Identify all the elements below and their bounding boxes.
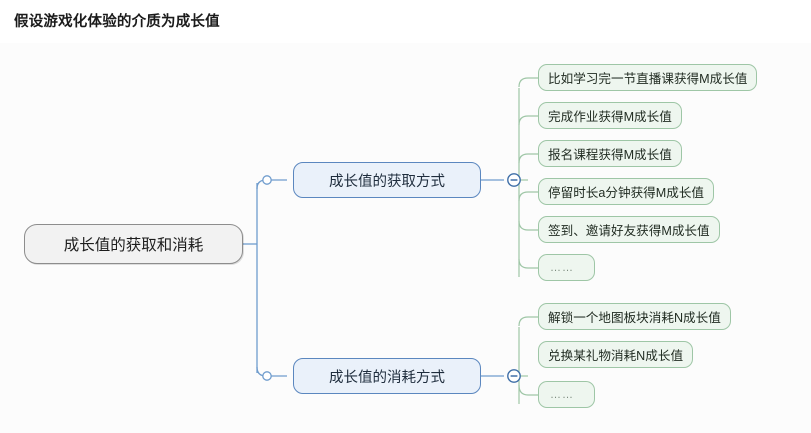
mindmap-leaf-acquire-3[interactable]: 报名课程获得M成长值 <box>538 140 682 167</box>
mindmap-leaf-acquire-2[interactable]: 完成作业获得M成长值 <box>538 102 682 129</box>
mindmap-root-node[interactable]: 成长值的获取和消耗 <box>24 224 243 264</box>
mindmap-leaf-consume-1[interactable]: 解锁一个地图板块消耗N成长值 <box>538 303 731 330</box>
mindmap-branch-acquire[interactable]: 成长值的获取方式 <box>293 162 481 198</box>
mindmap-leaf-consume-more[interactable]: …… <box>538 381 595 408</box>
mindmap-leaf-acquire-4[interactable]: 停留时长a分钟获得M成长值 <box>538 178 714 205</box>
page-title: 假设游戏化体验的介质为成长值 <box>14 10 220 31</box>
mindmap-leaf-consume-2[interactable]: 兑换某礼物消耗N成长值 <box>538 341 693 368</box>
mindmap-branch-consume[interactable]: 成长值的消耗方式 <box>293 358 481 394</box>
mindmap-leaf-acquire-1[interactable]: 比如学习完一节直播课获得M成长值 <box>538 64 757 91</box>
mindmap-canvas: 成长值的获取和消耗 成长值的获取方式 比如学习完一节直播课获得M成长值 完成作业… <box>0 43 811 433</box>
minus-circle-icon-acquire[interactable] <box>504 170 524 190</box>
minus-circle-icon-consume[interactable] <box>504 366 524 386</box>
mindmap-leaf-acquire-more[interactable]: …… <box>538 254 595 281</box>
mindmap-leaf-acquire-5[interactable]: 签到、邀请好友获得M成长值 <box>538 216 720 243</box>
